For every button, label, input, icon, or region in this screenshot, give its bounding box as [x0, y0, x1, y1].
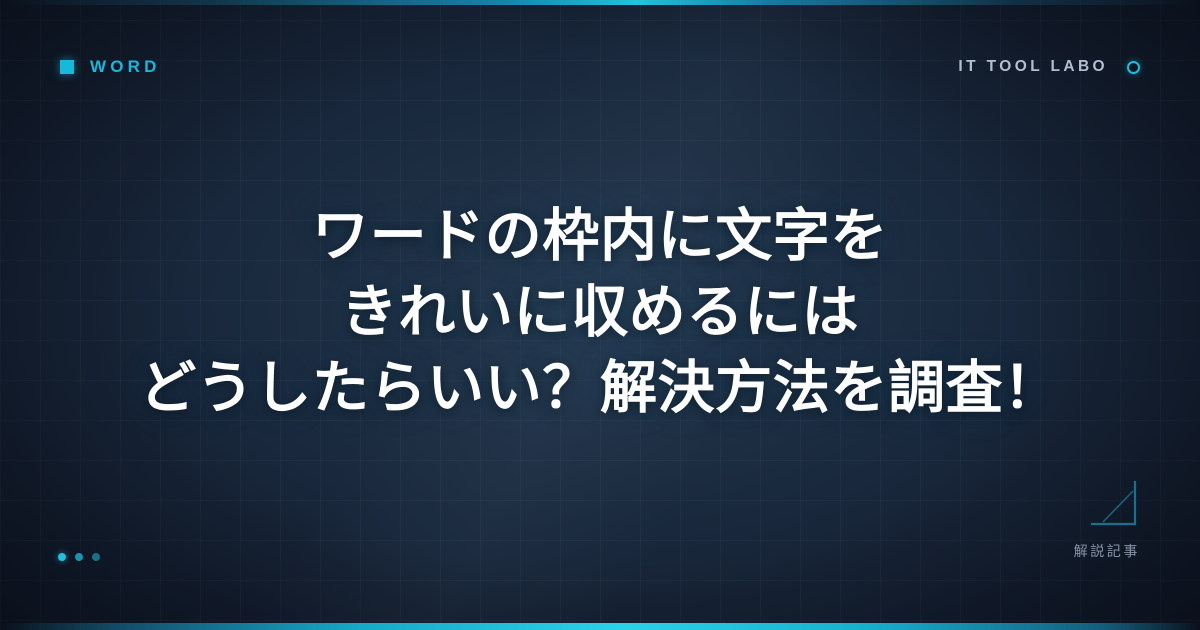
title-line-2: きれいに収めるには — [341, 274, 859, 350]
article-type-caption: 解説記事 — [1074, 541, 1140, 561]
progress-dots — [58, 553, 100, 561]
title-block: ワードの枠内に文字を きれいに収めるには どうしたらいい？解決方法を調査！ — [0, 0, 1200, 630]
dot-1 — [58, 553, 66, 561]
dot-2 — [75, 553, 83, 561]
dot-3 — [92, 553, 100, 561]
title-line-1: ワードの枠内に文字を — [312, 198, 888, 274]
corner-angle-icon — [1089, 480, 1137, 526]
thumbnail-canvas: WORD IT TOOL LABO ワードの枠内に文字を きれいに収めるには ど… — [0, 0, 1200, 630]
title-line-3: どうしたらいい？解決方法を調査！ — [139, 350, 1061, 426]
